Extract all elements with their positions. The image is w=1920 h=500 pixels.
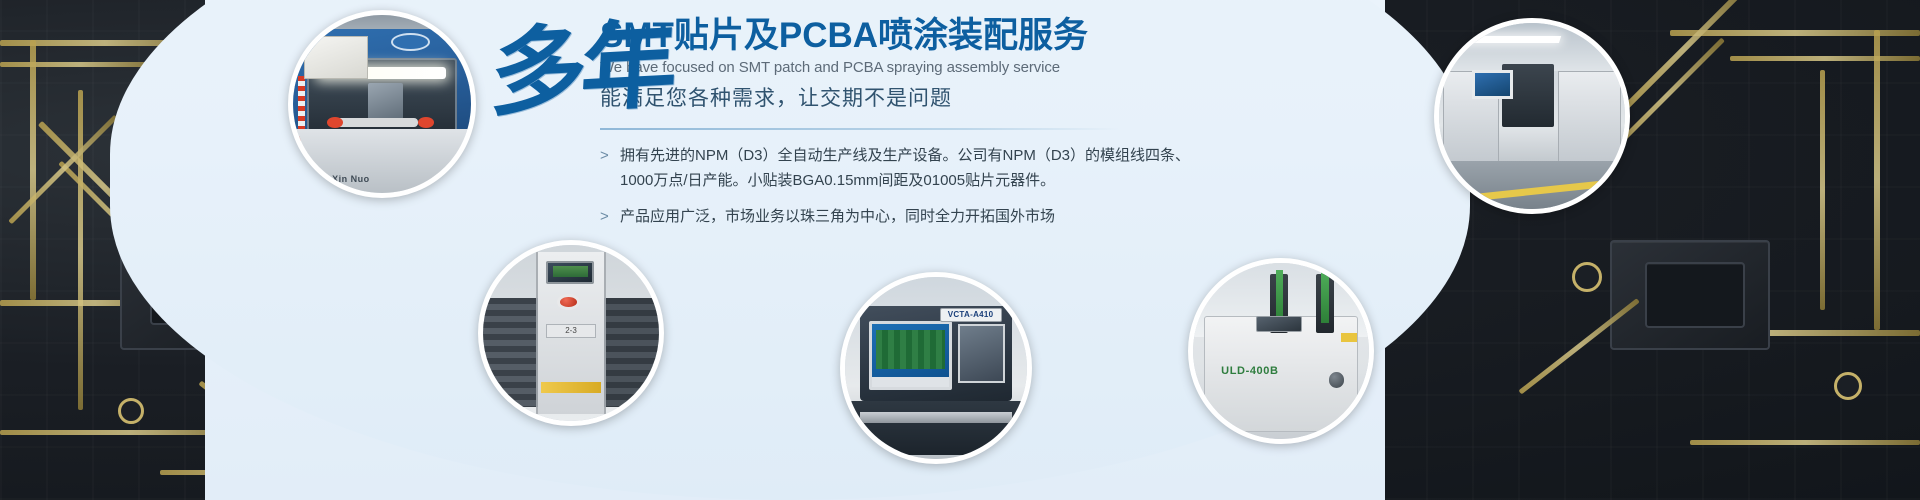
list-item-text: 拥有先进的NPM（D3）全自动生产线及生产设备。公司有NPM（D3）的模组线四条…	[620, 144, 1180, 193]
photo-caption: 2-3	[546, 324, 595, 338]
pcb-trace	[1874, 30, 1880, 330]
pcb-trace	[1670, 30, 1920, 36]
pcb-trace	[1690, 440, 1920, 445]
pcb-pad	[118, 398, 144, 424]
photo-caption: Xin Nuo	[332, 174, 370, 184]
list-item: > 产品应用广泛，市场业务以珠三角为中心，同时全力开拓国外市场	[600, 205, 1220, 229]
pcb-trace	[1820, 70, 1825, 310]
photo-chip-mounter: 2-3	[478, 240, 664, 426]
subtitle-english: We have focused on SMT patch and PCBA sp…	[600, 59, 1220, 76]
list-item-line: 1000万点/日产能。小贴装BGA0.15mm间距及01005贴片元器件。	[620, 169, 1180, 193]
pcb-trace	[30, 40, 36, 300]
feature-list: > 拥有先进的NPM（D3）全自动生产线及生产设备。公司有NPM（D3）的模组线…	[600, 144, 1220, 229]
photo-caption: VCTA-A410	[940, 308, 1002, 323]
pcb-pad	[1572, 262, 1602, 292]
list-item-line: 拥有先进的NPM（D3）全自动生产线及生产设备。公司有NPM（D3）的模组线四条…	[620, 144, 1180, 168]
photo-aoi-inspection: VCTA-A410	[840, 272, 1032, 464]
pcb-trace	[0, 62, 160, 67]
tagline: 能满足您各种需求，让交期不是问题	[600, 82, 1220, 112]
pcb-chip	[1645, 262, 1745, 328]
page-title: SMT贴片及PCBA喷涂装配服务	[600, 16, 1220, 56]
pcb-trace	[78, 90, 83, 410]
pcb-pad	[1834, 372, 1862, 400]
list-item-text: 产品应用广泛，市场业务以珠三角为中心，同时全力开拓国外市场	[620, 205, 1055, 229]
bullet-marker-icon: >	[600, 205, 620, 228]
photo-caption: ULD-400B	[1221, 365, 1278, 377]
list-item-line: 产品应用广泛，市场业务以珠三角为中心，同时全力开拓国外市场	[620, 205, 1055, 229]
promo-banner: Xin Nuo 2-3 VCTA-A410	[0, 0, 1920, 500]
photo-uld-loader: ULD-400B	[1188, 258, 1374, 444]
brush-word-duonian: 多年	[486, 17, 684, 157]
list-item: > 拥有先进的NPM（D3）全自动生产线及生产设备。公司有NPM（D3）的模组线…	[600, 144, 1220, 193]
divider	[600, 128, 1120, 130]
photo-production-line	[1434, 18, 1630, 214]
banner-text-block: 多年 SMT贴片及PCBA喷涂装配服务 We have focused on S…	[600, 16, 1220, 241]
pcb-trace	[1730, 56, 1920, 61]
photo-smt-printer: Xin Nuo	[288, 10, 476, 198]
